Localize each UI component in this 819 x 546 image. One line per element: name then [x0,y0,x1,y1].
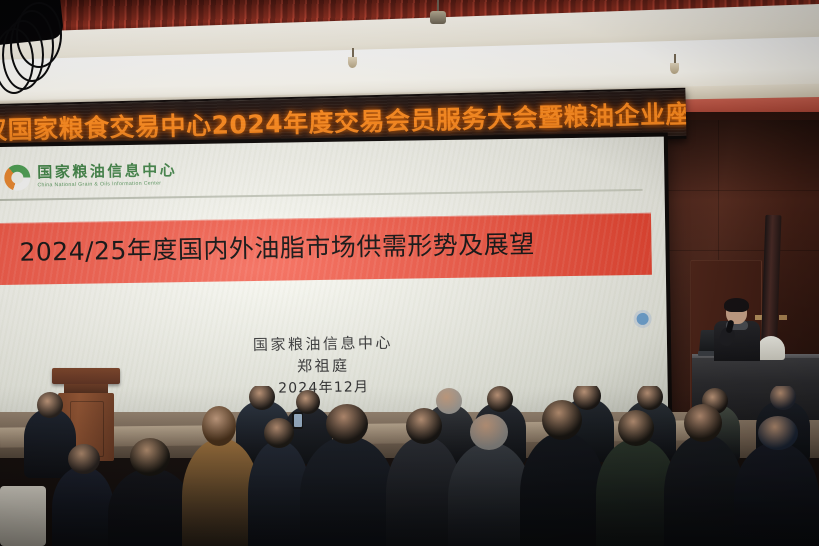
slide-logo: 国家粮油信息中心 China National Grain & Oils Inf… [4,162,177,191]
audience-head [296,390,320,414]
audience-head [68,444,100,474]
white-chair [757,336,785,360]
conference-hall-photo: 汉国家粮食交易中心2024年度交易会员服务大会暨粮油企业座谈会 国家粮油信息中心… [0,0,819,546]
audience-person [300,436,396,546]
smartphone-screen [294,414,302,427]
audience-head [37,392,63,418]
audience-head [618,410,654,446]
pendant-lamp-icon [670,63,679,74]
audience-head [130,438,170,476]
white-chair-back [0,486,46,546]
audience-head [436,388,462,414]
slide-divider [0,189,643,201]
ceiling-projector-mount [430,0,446,26]
audience-head [758,416,798,450]
wall-seam [660,250,819,251]
audience-person [664,434,744,546]
audience-person [520,432,606,546]
hanging-cable-cluster [0,0,110,98]
audience-person [24,408,76,478]
logo-text-cn: 国家粮油信息中心 [37,164,177,181]
door-handle[interactable] [779,315,787,320]
presenter-person [714,300,760,360]
slide-logo-text: 国家粮油信息中心 China National Grain & Oils Inf… [37,164,177,189]
audience-head [326,404,368,444]
audience-head [684,404,722,442]
audience-head [264,418,294,448]
podium-top [52,368,120,384]
audience-head [202,406,236,446]
cursor-dot-icon [637,313,649,325]
audience [0,386,819,546]
audience-person [52,466,114,546]
presenter-hair [724,298,749,312]
wall-seam [660,190,819,191]
audience-head [406,408,442,444]
audience-head [470,414,508,450]
grain-oils-center-logo-icon [4,165,30,191]
audience-head [542,400,582,440]
audience-person [734,442,819,546]
projector-body [430,11,446,24]
pendant-lamp-icon [348,57,357,68]
logo-text-en: China National Grain & Oils Information … [37,182,177,189]
audience-head [487,386,513,412]
